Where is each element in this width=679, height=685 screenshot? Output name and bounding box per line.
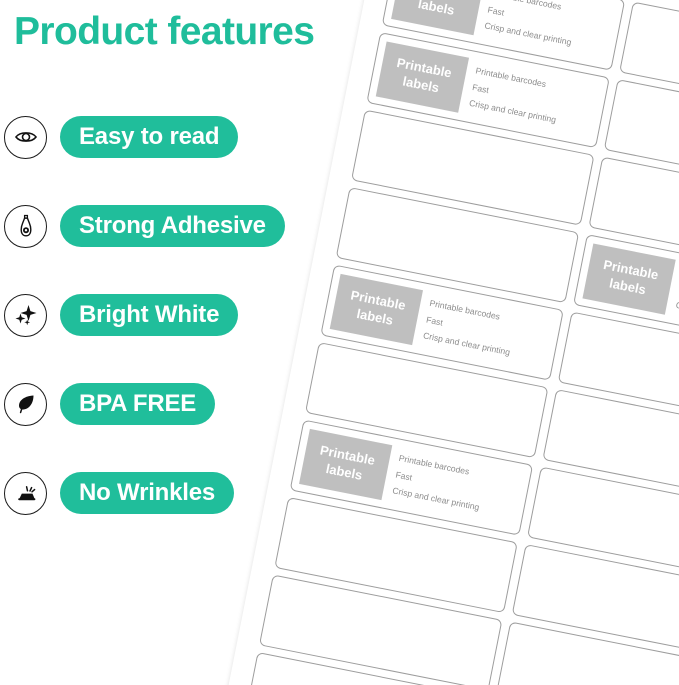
label-text: Printable barcodes Fast Crisp and clear … — [483, 0, 579, 51]
feature-item-bpa-free: BPA FREE — [0, 382, 215, 426]
label-badge: Printable labels — [376, 41, 469, 112]
leaf-icon — [4, 383, 47, 426]
label-badge: Printable labels — [330, 274, 423, 345]
feature-badge: BPA FREE — [60, 383, 215, 425]
feature-badge: No Wrinkles — [60, 472, 234, 514]
label-text: Printable barcodes Fast Crisp and clear … — [468, 62, 564, 128]
label-badge: Printable labels — [391, 0, 484, 35]
sparkles-icon — [4, 294, 47, 337]
feature-item-no-wrinkles: No Wrinkles — [0, 471, 234, 515]
page-title: Product features — [14, 10, 314, 54]
glue-bottle-icon — [4, 205, 47, 248]
label-sheet-photo: Printable labels Printable barcodes Fast… — [223, 0, 679, 685]
label-badge: Printable labels — [582, 243, 675, 314]
feature-item-easy-to-read: Easy to read — [0, 115, 238, 159]
feature-badge: Easy to read — [60, 116, 238, 158]
label-badge-line2: labels — [416, 0, 455, 19]
label-line-3: Crisp and clear printing — [674, 297, 679, 331]
feature-item-bright-white: Bright White — [0, 293, 238, 337]
label-grid: Printable labels Printable barcodes Fast… — [242, 0, 679, 685]
feature-item-strong-adhesive: Strong Adhesive — [0, 204, 285, 248]
feature-badge: Bright White — [60, 294, 238, 336]
label-text: Printable barcodes Fast Crisp and clear … — [391, 450, 487, 516]
feature-badge: Strong Adhesive — [60, 205, 285, 247]
product-feature-image: Product features Easy to read Strong Adh… — [0, 0, 679, 685]
eye-icon — [4, 116, 47, 159]
label-badge: Printable labels — [299, 429, 392, 500]
label-text: Printable barcodes Fast Crisp and clear … — [422, 295, 518, 361]
label-sheet-front: Printable labels Printable barcodes Fast… — [223, 0, 679, 685]
label-text: Printable barcodes Fast Crisp and clear … — [674, 264, 679, 330]
smooth-surface-icon — [4, 472, 47, 515]
